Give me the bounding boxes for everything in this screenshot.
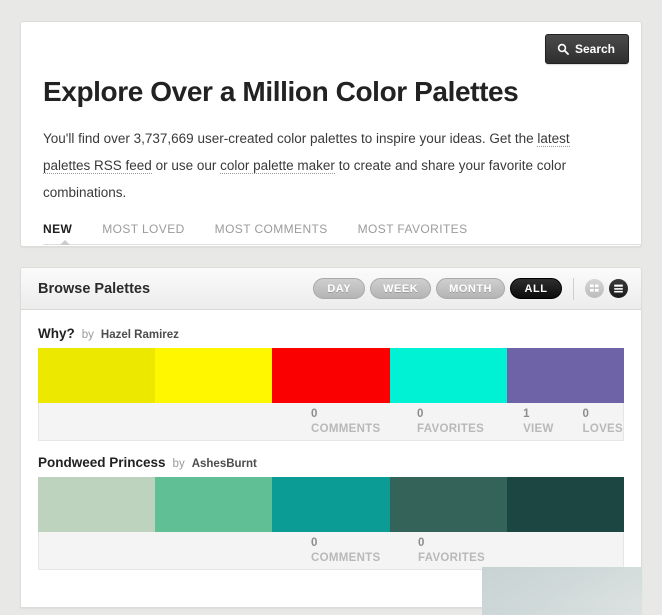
stat-comments: 0 COMMENTS — [311, 536, 418, 565]
tab-most-loved[interactable]: MOST LOVED — [102, 222, 184, 245]
range-week-button[interactable]: WEEK — [370, 278, 431, 299]
color-swatch[interactable] — [390, 348, 507, 403]
search-button[interactable]: Search — [545, 34, 629, 64]
stat-label: FAVORITES — [418, 551, 485, 565]
range-all-button[interactable]: ALL — [510, 278, 562, 299]
hero-panel: Search Explore Over a Million Color Pale… — [20, 21, 642, 247]
page-root: Search Explore Over a Million Color Pale… — [0, 21, 662, 615]
palette-list: Why? by Hazel Ramirez 0 COMMENTS — [21, 310, 641, 570]
tab-most-favorites[interactable]: MOST FAVORITES — [358, 222, 468, 245]
toolbar-divider — [573, 278, 574, 300]
tabs-divider — [43, 244, 641, 245]
stat-favorites: 0 FAVORITES — [417, 407, 523, 436]
palette-header: Why? by Hazel Ramirez — [38, 326, 624, 341]
palette-author[interactable]: Hazel Ramirez — [101, 329, 179, 341]
range-day-button[interactable]: DAY — [313, 278, 365, 299]
list-view-icon[interactable] — [609, 279, 628, 298]
color-swatch[interactable] — [272, 477, 389, 532]
stat-comments: 0 COMMENTS — [311, 407, 417, 436]
color-swatch[interactable] — [155, 477, 272, 532]
palette-title[interactable]: Why? — [38, 326, 75, 341]
hero-description: You'll find over 3,737,669 user-created … — [43, 125, 618, 206]
range-month-button[interactable]: MONTH — [436, 278, 505, 299]
active-tab-caret-icon — [60, 240, 70, 245]
search-button-label: Search — [575, 42, 615, 56]
palette-swatches — [38, 348, 624, 403]
color-swatch[interactable] — [390, 477, 507, 532]
palette-stats: 0 COMMENTS 0 FAVORITES 1 VIEW 0 LOVES — [38, 403, 624, 441]
by-label: by — [82, 329, 94, 341]
browse-header: Browse Palettes DAY WEEK MONTH ALL — [21, 268, 641, 310]
palette-card: Why? by Hazel Ramirez 0 COMMENTS — [38, 326, 624, 441]
palette-header: Pondweed Princess by AshesBurnt — [38, 455, 624, 470]
stat-label: LOVES — [583, 422, 623, 436]
stat-loves: 0 LOVES — [583, 407, 623, 436]
browse-title: Browse Palettes — [38, 281, 313, 297]
sort-tabs: NEW MOST LOVED MOST COMMENTS MOST FAVORI… — [43, 222, 619, 245]
color-swatch[interactable] — [507, 348, 624, 403]
color-swatch[interactable] — [507, 477, 624, 532]
stat-value: 0 — [417, 407, 523, 421]
view-mode-group — [585, 279, 628, 298]
palette-card: Pondweed Princess by AshesBurnt 0 COMMEN… — [38, 455, 624, 570]
stat-value: 0 — [311, 536, 418, 550]
stat-value: 0 — [311, 407, 417, 421]
hero-desc-part2: or use our — [152, 158, 220, 173]
grid-view-icon[interactable] — [585, 279, 604, 298]
palette-title[interactable]: Pondweed Princess — [38, 455, 166, 470]
color-swatch[interactable] — [38, 477, 155, 532]
stat-label: VIEW — [523, 422, 582, 436]
palette-author[interactable]: AshesBurnt — [192, 458, 257, 470]
by-label: by — [173, 458, 185, 470]
color-swatch[interactable] — [155, 348, 272, 403]
color-swatch[interactable] — [38, 348, 155, 403]
search-icon — [557, 43, 569, 55]
tab-most-comments[interactable]: MOST COMMENTS — [215, 222, 328, 245]
browse-panel: Browse Palettes DAY WEEK MONTH ALL — [20, 267, 642, 608]
page-title: Explore Over a Million Color Palettes — [43, 76, 619, 108]
stat-label: COMMENTS — [311, 551, 418, 565]
time-range-group: DAY WEEK MONTH ALL — [313, 278, 562, 299]
palette-maker-link[interactable]: color palette maker — [220, 158, 335, 174]
hero-desc-part1: You'll find over 3,737,669 user-created … — [43, 131, 537, 146]
stat-label: COMMENTS — [311, 422, 417, 436]
stat-value: 0 — [583, 407, 623, 421]
stat-favorites: 0 FAVORITES — [418, 536, 485, 565]
stat-label: FAVORITES — [417, 422, 523, 436]
stat-value: 1 — [523, 407, 582, 421]
stat-value: 0 — [418, 536, 485, 550]
color-swatch[interactable] — [272, 348, 389, 403]
palette-stats: 0 COMMENTS 0 FAVORITES — [38, 532, 624, 570]
stat-views: 1 VIEW — [523, 407, 582, 436]
palette-swatches — [38, 477, 624, 532]
